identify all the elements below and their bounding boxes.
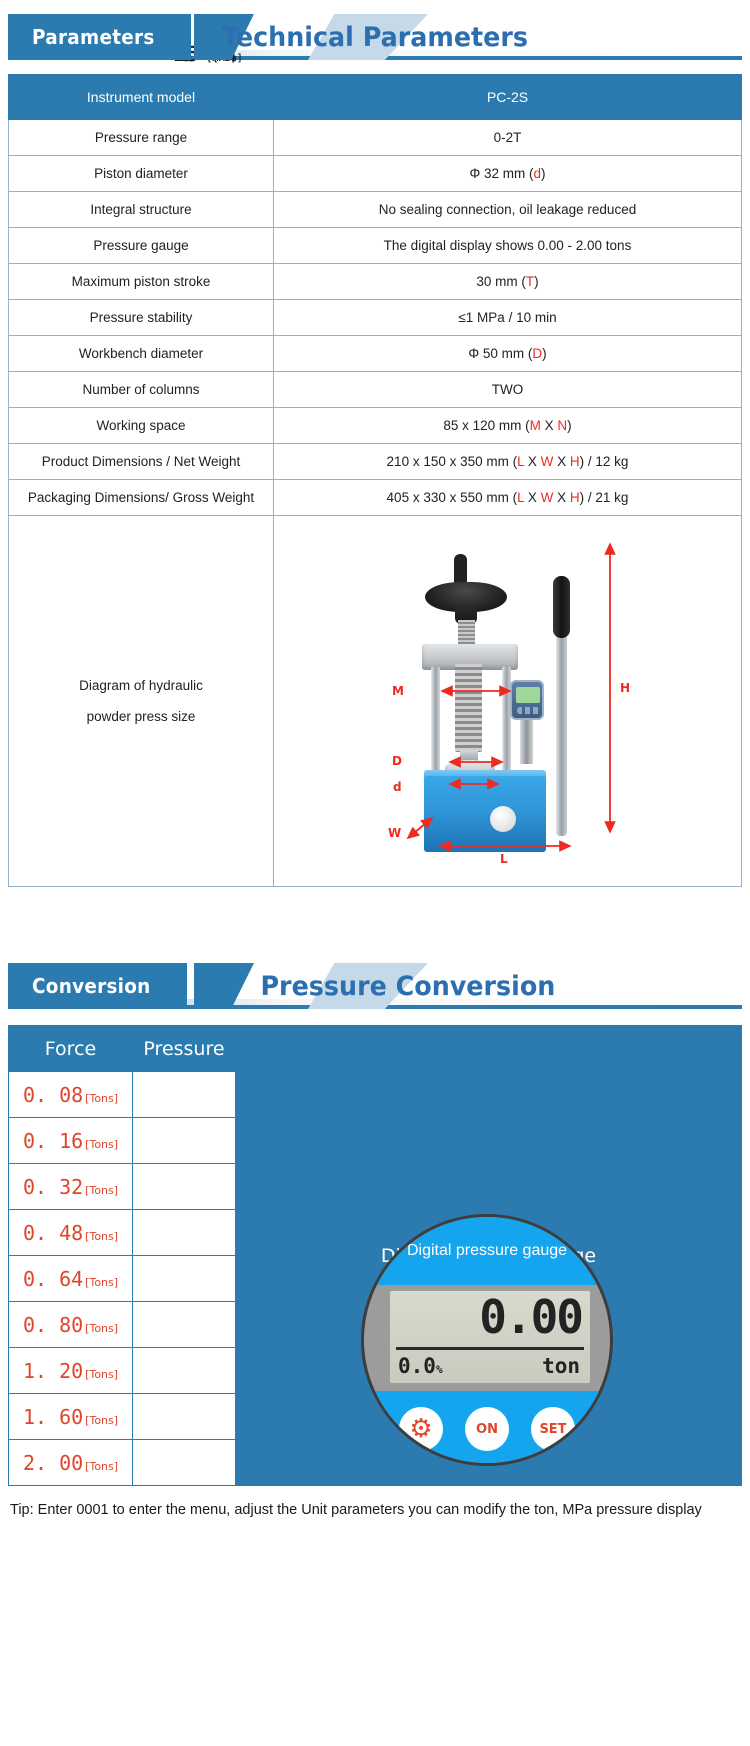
table-row: Working space 85 x 120 mm (M X N) xyxy=(9,408,742,444)
pressure-cell: 8[MPa] xyxy=(133,1256,236,1302)
value-text: Φ 50 mm ( xyxy=(468,346,532,361)
row-value: 30 mm (T) xyxy=(274,264,742,300)
row-value: ≤1 MPa / 10 min xyxy=(274,300,742,336)
row-value: TWO xyxy=(274,372,742,408)
parameters-tab-label: Parameters xyxy=(32,25,155,49)
row-value: 210 x 150 x 350 mm (L X W X H) / 12 kg xyxy=(274,444,742,480)
pressure-cell: 2[MPa] xyxy=(133,1118,236,1164)
force-cell: 0. 80[Tons] xyxy=(9,1302,133,1348)
value-sep: X xyxy=(553,490,570,505)
force-value: 0. 08 xyxy=(23,1083,83,1107)
value-red-letter: W xyxy=(541,454,554,469)
value-sep: X xyxy=(553,454,570,469)
force-value: 1. 20 xyxy=(23,1359,83,1383)
diagram-caption-line2: powder press size xyxy=(15,701,267,732)
value-red-letter: H xyxy=(570,490,580,505)
row-value: No sealing connection, oil leakage reduc… xyxy=(274,192,742,228)
value-red-letter: M xyxy=(530,418,541,433)
row-value: 85 x 120 mm (M X N) xyxy=(274,408,742,444)
pressure-cell: 10[MPa] xyxy=(133,1302,236,1348)
value-red-letter: d xyxy=(534,166,542,181)
column-header-pressure: Pressure xyxy=(133,1026,236,1072)
value-red-letter: N xyxy=(557,418,567,433)
value-red-letter: H xyxy=(570,454,580,469)
dimension-label-D: D xyxy=(392,754,402,768)
force-value: 2. 00 xyxy=(23,1451,83,1475)
header-value-cell: PC-2S xyxy=(274,75,742,120)
value-suffix: ) xyxy=(541,166,546,181)
pressure-cell: 6[MPa] xyxy=(133,1210,236,1256)
conversion-tab-label: Conversion xyxy=(32,974,151,998)
value-red-letter: W xyxy=(541,490,554,505)
value-suffix: ) / 12 kg xyxy=(580,454,629,469)
row-value: 405 x 330 x 550 mm (L X W X H) / 21 kg xyxy=(274,480,742,516)
digital-pressure-gauge-cell: Digital pressure gauge xyxy=(236,1026,742,1486)
table-row: Product Dimensions / Net Weight 210 x 15… xyxy=(9,444,742,480)
row-label: Working space xyxy=(9,408,274,444)
force-unit: [Tons] xyxy=(85,1138,118,1151)
row-value: Φ 32 mm (d) xyxy=(274,156,742,192)
diagram-cell: M D d H W L xyxy=(274,516,742,887)
value-red-letter: T xyxy=(526,274,534,289)
value-suffix: ) xyxy=(542,346,547,361)
column-header-force: Force xyxy=(9,1026,133,1072)
dimension-label-M: M xyxy=(392,684,404,698)
conversion-header-row: Force Pressure Digital pressure gauge xyxy=(9,1026,742,1072)
force-unit: [Tons] xyxy=(85,1368,118,1381)
force-unit: [Tons] xyxy=(85,1230,118,1243)
diagram-row: Diagram of hydraulic powder press size xyxy=(9,516,742,887)
force-value: 1. 60 xyxy=(23,1405,83,1429)
force-cell: 0. 64[Tons] xyxy=(9,1256,133,1302)
table-row: Packaging Dimensions/ Gross Weight 405 x… xyxy=(9,480,742,516)
value-text: 210 x 150 x 350 mm ( xyxy=(387,454,518,469)
force-unit: [Tons] xyxy=(85,1414,118,1427)
value-suffix: ) xyxy=(567,418,572,433)
dimension-label-H: H xyxy=(620,681,630,695)
gauge-column-title: Digital pressure gauge xyxy=(236,1245,741,1267)
pressure-cell: 15[MPa] xyxy=(133,1348,236,1394)
row-value: 0-2T xyxy=(274,120,742,156)
pressure-conversion-banner: Conversion Pressure Conversion xyxy=(8,963,742,1009)
force-cell: 2. 00[Tons] xyxy=(9,1440,133,1486)
force-value: 0. 80 xyxy=(23,1313,83,1337)
force-cell: 1. 20[Tons] xyxy=(9,1348,133,1394)
technical-parameters-banner: Parameters Technical Parameters xyxy=(8,14,742,60)
value-suffix: ) / 21 kg xyxy=(580,490,629,505)
force-cell: 0. 08[Tons] xyxy=(9,1072,133,1118)
force-unit: [Tons] xyxy=(85,1092,118,1105)
pressure-cell: 1[MPa] xyxy=(133,1072,236,1118)
press-diagram: M D d H W L xyxy=(280,526,735,876)
force-cell: 0. 32[Tons] xyxy=(9,1164,133,1210)
product-spec-page: Parameters Technical Parameters Instrume… xyxy=(0,14,750,1523)
value-sep: X xyxy=(541,418,558,433)
row-label: Number of columns xyxy=(9,372,274,408)
diagram-caption-line1: Diagram of hydraulic xyxy=(15,670,267,701)
force-unit: [Tons] xyxy=(85,1276,118,1289)
tip-text: Tip: Enter 0001 to enter the menu, adjus… xyxy=(10,1498,740,1523)
force-unit: [Tons] xyxy=(85,1460,118,1473)
row-value: Φ 50 mm (D) xyxy=(274,336,742,372)
force-value: 0. 48 xyxy=(23,1221,83,1245)
value-text: 30 mm ( xyxy=(476,274,526,289)
row-label: Product Dimensions / Net Weight xyxy=(9,444,274,480)
row-label: Packaging Dimensions/ Gross Weight xyxy=(9,480,274,516)
value-sep: X xyxy=(524,490,541,505)
pressure-cell: 4[MPa] xyxy=(133,1164,236,1210)
value-text: Φ 32 mm ( xyxy=(469,166,533,181)
dimension-label-d: d xyxy=(393,780,402,794)
force-value: 0. 64 xyxy=(23,1267,83,1291)
force-unit: [Tons] xyxy=(85,1322,118,1335)
dimension-label-W: W xyxy=(388,826,401,840)
force-unit: [Tons] xyxy=(85,1184,118,1197)
diagram-caption: Diagram of hydraulic powder press size xyxy=(9,516,274,887)
pressure-cell: 25[MPa] xyxy=(133,1440,236,1486)
force-value: 0. 16 xyxy=(23,1129,83,1153)
value-suffix: ) xyxy=(534,274,539,289)
force-cell: 0. 16[Tons] xyxy=(9,1118,133,1164)
value-text: 405 x 330 x 550 mm ( xyxy=(387,490,518,505)
table-row: Number of columns TWO xyxy=(9,372,742,408)
value-sep: X xyxy=(524,454,541,469)
force-value: 0. 32 xyxy=(23,1175,83,1199)
parameters-tab: Parameters xyxy=(8,14,191,60)
value-red-letter: D xyxy=(532,346,542,361)
row-value: The digital display shows 0.00 - 2.00 to… xyxy=(274,228,742,264)
dimension-arrows xyxy=(280,526,735,876)
force-cell: 1. 60[Tons] xyxy=(9,1394,133,1440)
dimension-label-L: L xyxy=(500,852,508,866)
force-cell: 0. 48[Tons] xyxy=(9,1210,133,1256)
value-text: 85 x 120 mm ( xyxy=(443,418,529,433)
pressure-conversion-table: Force Pressure Digital pressure gauge 0.… xyxy=(8,1025,742,1486)
conversion-tab: Conversion xyxy=(8,963,187,1009)
pressure-cell: 20[MPa] xyxy=(133,1394,236,1440)
